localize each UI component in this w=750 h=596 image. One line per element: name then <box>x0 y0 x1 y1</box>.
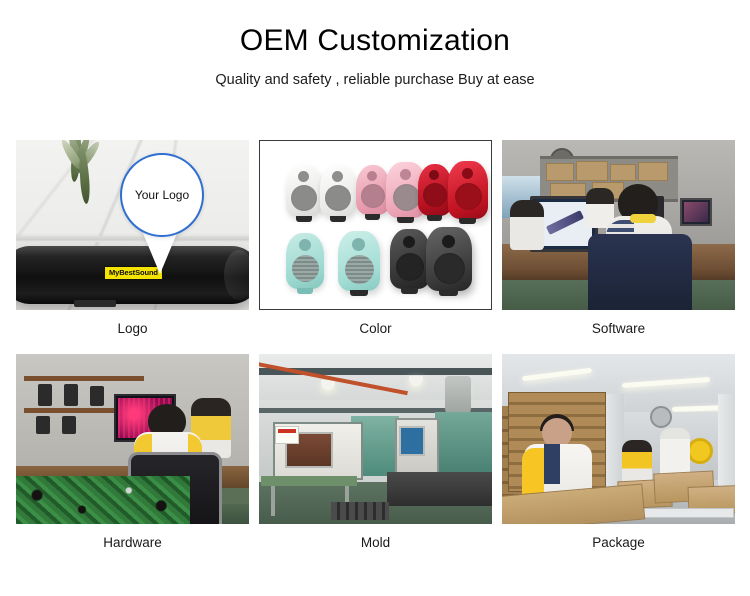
page-header: OEM Customization Quality and safety , r… <box>0 0 750 89</box>
soundbar-foot <box>74 300 116 307</box>
plant-decor-icon <box>44 140 130 216</box>
logo-thumbnail-image[interactable]: MyBestSound Your Logo <box>16 140 249 310</box>
caption-package: Package <box>502 524 735 558</box>
packing-line-photo <box>502 354 735 524</box>
coworker-far <box>660 428 690 478</box>
caption-color: Color <box>259 310 492 344</box>
grid-cell-software[interactable]: Software <box>502 140 735 344</box>
page-title: OEM Customization <box>0 24 750 57</box>
grid-cell-mold[interactable]: Mold <box>259 354 492 558</box>
hardware-thumbnail-image[interactable]: MyBestSound <box>16 354 249 524</box>
counter-edge <box>16 236 249 242</box>
grid-cell-color[interactable]: Color <box>259 140 492 344</box>
electronics-lab-photo: MyBestSound <box>16 354 249 524</box>
steel-pallet <box>331 502 389 520</box>
color-thumbnail-image[interactable] <box>259 140 492 310</box>
speaker-red-front <box>448 161 488 219</box>
coworker-left <box>510 200 544 250</box>
logo-callout-bubble: Your Logo <box>120 153 204 237</box>
grid-cell-package[interactable]: Package <box>502 354 735 558</box>
speaker-black-back <box>390 229 430 289</box>
page-subtitle: Quality and safety , reliable purchase B… <box>0 73 750 89</box>
feature-grid: MyBestSound Your Logo Logo <box>16 140 735 558</box>
injection-molding-photo <box>259 354 492 524</box>
safety-sign <box>275 426 299 444</box>
tape-reel <box>687 438 713 464</box>
speaker-mint-front <box>338 231 380 291</box>
office-photo <box>502 140 735 310</box>
caption-mold: Mold <box>259 524 492 558</box>
speaker-white-front <box>320 165 356 217</box>
circuit-boards-pile <box>16 476 190 524</box>
caption-logo: Logo <box>16 310 249 344</box>
speaker-red-back <box>418 164 452 216</box>
machine-control-panel <box>399 426 425 456</box>
speaker-black-front <box>426 227 472 291</box>
grid-cell-logo[interactable]: MyBestSound Your Logo Logo <box>16 140 249 344</box>
speaker-pink-back <box>356 165 390 215</box>
speaker-mint-back <box>286 233 324 289</box>
grid-cell-hardware[interactable]: MyBestSound Hardware <box>16 354 249 558</box>
speaker-white-back <box>286 165 322 217</box>
callout-label: Your Logo <box>135 188 189 202</box>
caption-software: Software <box>502 310 735 344</box>
ceiling-fan-icon <box>650 406 672 428</box>
mold-thumbnail-image[interactable] <box>259 354 492 524</box>
package-thumbnail-image[interactable] <box>502 354 735 524</box>
caption-hardware: Hardware <box>16 524 249 558</box>
office-chair <box>588 234 692 310</box>
software-thumbnail-image[interactable] <box>502 140 735 310</box>
